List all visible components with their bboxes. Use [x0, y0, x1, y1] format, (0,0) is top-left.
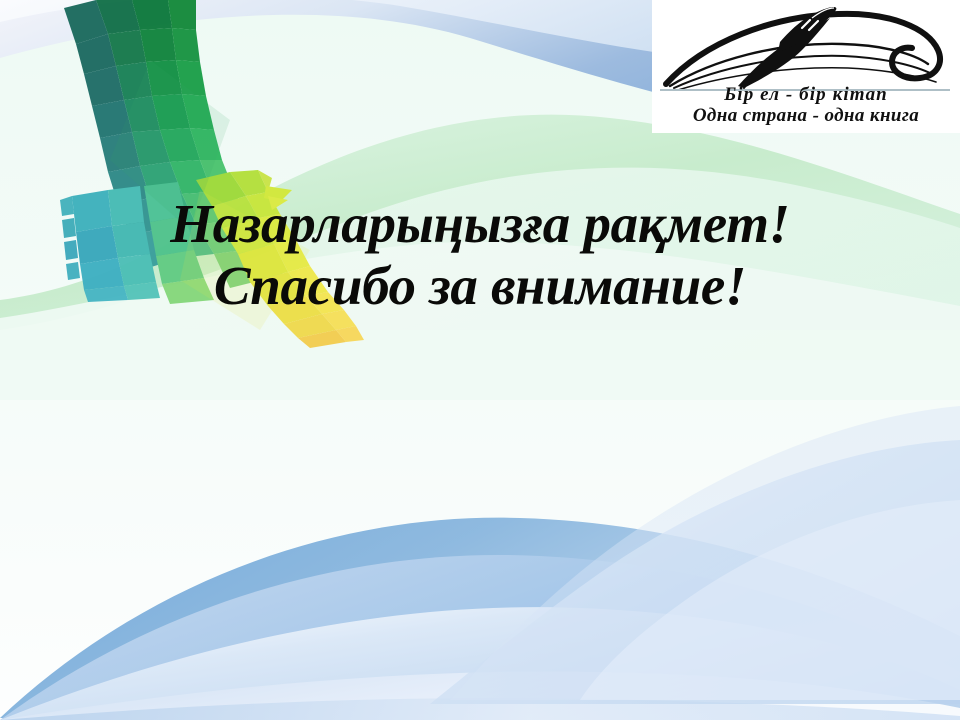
logo-tagline-russian: Одна страна - одна книга: [652, 105, 960, 127]
logo-tagline-kazakh: Бір ел - бір кітап: [652, 84, 960, 106]
title-line-kazakh: Назарларыңызға рақмет!: [0, 196, 960, 252]
quill-pen-icon: [652, 2, 960, 94]
slide-canvas: Назарларыңызға рақмет! Спасибо за вниман…: [0, 0, 960, 720]
program-logo: Бір ел - бір кітап Одна страна - одна кн…: [652, 0, 960, 133]
title-line-russian: Спасибо за внимание!: [0, 258, 960, 314]
slide-title-block: Назарларыңызға рақмет! Спасибо за вниман…: [0, 196, 960, 314]
